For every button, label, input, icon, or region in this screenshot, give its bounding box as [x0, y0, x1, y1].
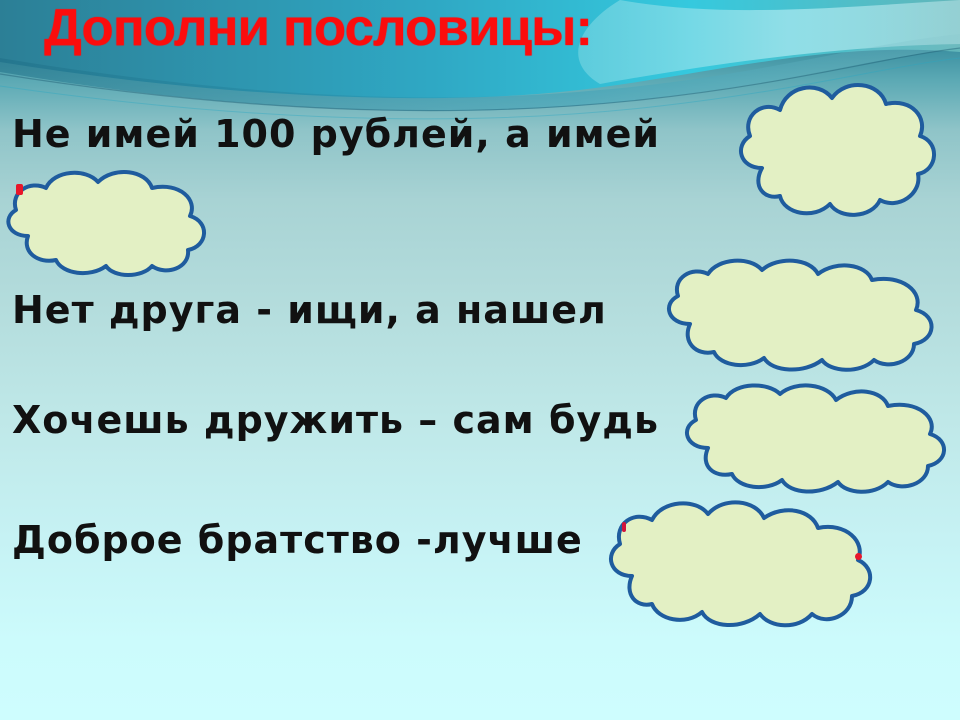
red-mark-bottom-cloud-left [622, 522, 626, 532]
proverb-line-4: Доброе братство -лучше [12, 518, 583, 562]
red-dot-left-cloud [16, 184, 23, 195]
page-title: Дополни пословицы: [44, 0, 592, 58]
proverb-line-1: Не имей 100 рублей, а имей [12, 112, 660, 156]
cloud-answer-1a[interactable] [722, 72, 952, 222]
cloud-answer-3[interactable] [672, 382, 958, 494]
proverb-line-3: Хочешь дружить – сам будь [12, 398, 659, 442]
cloud-answer-1b[interactable] [0, 166, 226, 278]
slide-canvas: Дополни пословицы: Не имей 100 рублей, а… [0, 0, 960, 720]
cloud-answer-4[interactable] [596, 498, 878, 632]
cloud-answer-2[interactable] [652, 256, 948, 374]
red-dot-bottom-cloud [855, 553, 862, 560]
proverb-line-2: Нет друга - ищи, а нашел [12, 288, 607, 332]
